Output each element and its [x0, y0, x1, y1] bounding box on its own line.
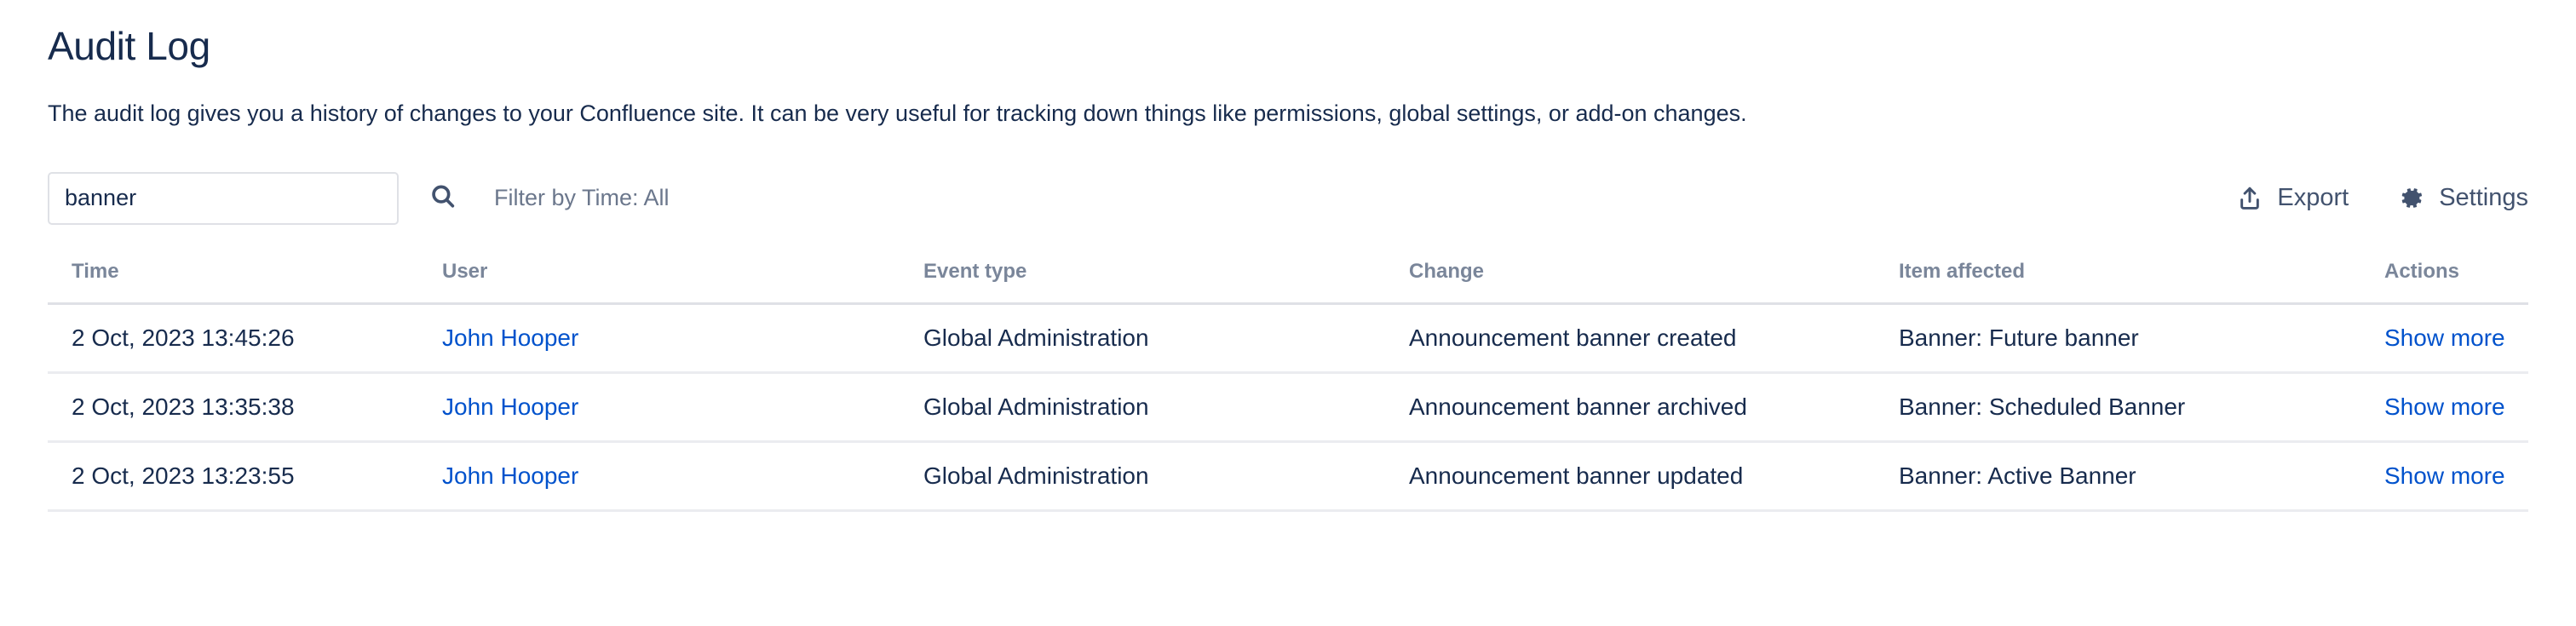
cell-change: Announcement banner created — [1409, 303, 1899, 372]
cell-change: Announcement banner archived — [1409, 372, 1899, 441]
search-input[interactable] — [48, 172, 399, 225]
search-icon — [428, 182, 457, 214]
column-header-item-affected: Item affected — [1899, 260, 2384, 304]
audit-log-table: Time User Event type Change Item affecte… — [48, 260, 2528, 512]
user-link[interactable]: John Hooper — [442, 462, 578, 489]
cell-event-type: Global Administration — [923, 303, 1409, 372]
gear-icon — [2398, 185, 2425, 212]
cell-user: John Hooper — [442, 303, 923, 372]
audit-log-page: Audit Log The audit log gives you a hist… — [0, 0, 2576, 626]
cell-item-affected: Banner: Active Banner — [1899, 441, 2384, 510]
cell-user: John Hooper — [442, 441, 923, 510]
search-button[interactable] — [424, 180, 462, 217]
filter-by-time-dropdown[interactable]: Filter by Time: All — [494, 185, 670, 211]
column-header-event-type: Event type — [923, 260, 1409, 304]
cell-user: John Hooper — [442, 372, 923, 441]
cell-item-affected: Banner: Scheduled Banner — [1899, 372, 2384, 441]
user-link[interactable]: John Hooper — [442, 324, 578, 351]
column-header-user: User — [442, 260, 923, 304]
cell-change: Announcement banner updated — [1409, 441, 1899, 510]
page-title: Audit Log — [48, 0, 2528, 69]
cell-event-type: Global Administration — [923, 441, 1409, 510]
export-button[interactable]: Export — [2236, 184, 2349, 212]
upload-icon — [2236, 185, 2263, 212]
settings-button[interactable]: Settings — [2398, 184, 2528, 212]
export-label: Export — [2277, 184, 2349, 212]
cell-actions: Show more — [2384, 372, 2528, 441]
user-link[interactable]: John Hooper — [442, 393, 578, 420]
toolbar-right-group: Export Settings — [2236, 184, 2528, 212]
cell-event-type: Global Administration — [923, 372, 1409, 441]
table-row: 2 Oct, 2023 13:23:55 John Hooper Global … — [48, 441, 2528, 510]
table-row: 2 Oct, 2023 13:35:38 John Hooper Global … — [48, 372, 2528, 441]
settings-label: Settings — [2439, 184, 2528, 212]
cell-item-affected: Banner: Future banner — [1899, 303, 2384, 372]
column-header-time: Time — [48, 260, 442, 304]
toolbar: Filter by Time: All Export — [48, 171, 2528, 226]
page-description: The audit log gives you a history of cha… — [48, 69, 2528, 130]
cell-time: 2 Oct, 2023 13:35:38 — [48, 372, 442, 441]
cell-actions: Show more — [2384, 303, 2528, 372]
table-row: 2 Oct, 2023 13:45:26 John Hooper Global … — [48, 303, 2528, 372]
cell-time: 2 Oct, 2023 13:23:55 — [48, 441, 442, 510]
cell-time: 2 Oct, 2023 13:45:26 — [48, 303, 442, 372]
column-header-actions: Actions — [2384, 260, 2528, 304]
show-more-link[interactable]: Show more — [2384, 462, 2505, 489]
toolbar-left-group: Filter by Time: All — [48, 172, 670, 225]
table-body: 2 Oct, 2023 13:45:26 John Hooper Global … — [48, 303, 2528, 510]
column-header-change: Change — [1409, 260, 1899, 304]
table-header: Time User Event type Change Item affecte… — [48, 260, 2528, 304]
show-more-link[interactable]: Show more — [2384, 393, 2505, 420]
cell-actions: Show more — [2384, 441, 2528, 510]
show-more-link[interactable]: Show more — [2384, 324, 2505, 351]
table-header-row: Time User Event type Change Item affecte… — [48, 260, 2528, 304]
